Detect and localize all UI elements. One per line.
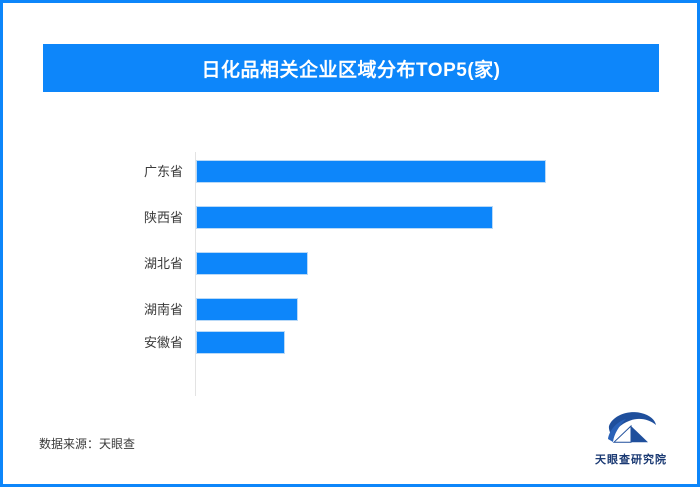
bar-fill [196,252,308,275]
bar-track [196,298,298,321]
brand-logo-text: 天眼查研究院 [595,451,667,467]
bar-fill [196,160,546,183]
bar-category-label: 湖北省 [63,252,183,275]
brand-logo: 天眼查研究院 [581,409,681,473]
infographic-card: 日化品相关企业区域分布TOP5(家) 广东省 陕西省 湖北省 湖南省 [0,0,700,487]
tianyancha-eye-logo-icon [605,409,657,449]
bar-track [196,206,493,229]
bar-category-label: 陕西省 [63,206,183,229]
bar-track [196,331,285,354]
bar-track [196,160,546,183]
bar-chart: 广东省 陕西省 湖北省 湖南省 安徽省 [3,123,700,383]
bar-row: 陕西省 [3,206,700,229]
page-title: 日化品相关企业区域分布TOP5(家) [202,55,501,82]
bar-row: 湖北省 [3,252,700,275]
bar-category-label: 广东省 [63,160,183,183]
bar-fill [196,298,298,321]
bar-row: 广东省 [3,160,700,183]
source-note: 数据来源：天眼查 [39,435,135,452]
bar-row: 安徽省 [3,331,700,354]
bar-track [196,252,308,275]
bar-category-label: 安徽省 [63,331,183,354]
title-banner: 日化品相关企业区域分布TOP5(家) [43,44,659,92]
bar-category-label: 湖南省 [63,298,183,321]
bar-row: 湖南省 [3,298,700,321]
bar-fill [196,206,493,229]
bar-fill [196,331,285,354]
